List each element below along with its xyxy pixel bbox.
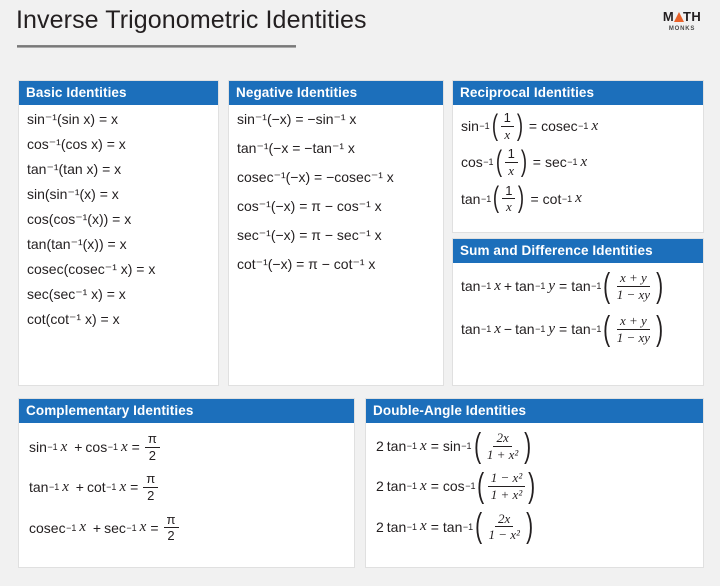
tall-parentheses: ( 1 − x² 1 + x² ) bbox=[475, 471, 537, 501]
fraction: π 2 bbox=[145, 432, 160, 462]
formula-row: cosec−1x + sec−1x = π 2 bbox=[29, 513, 346, 543]
paren-left: ( bbox=[492, 117, 498, 136]
fraction-denominator: 1 + x² bbox=[488, 487, 525, 502]
formula-row: sin−1x + cos−1x = π 2 bbox=[29, 432, 346, 462]
fraction-numerator: π bbox=[164, 513, 179, 529]
equals-sign: = bbox=[559, 279, 567, 293]
formula-term-2: cot bbox=[87, 480, 106, 494]
formula-rhs-function: tan bbox=[571, 322, 590, 336]
formula-rhs-function: sin bbox=[443, 439, 461, 453]
formula-row: cos⁻¹(−x) = π − cos⁻¹ x bbox=[237, 199, 435, 213]
formula-row: cot(cot⁻¹ x) = x bbox=[27, 312, 210, 326]
formula-row: sin⁻¹(sin x) = x bbox=[27, 112, 210, 126]
formula-rhs-function: tan bbox=[571, 279, 590, 293]
fraction: 1 x bbox=[501, 111, 514, 141]
formula-term: tan bbox=[461, 322, 480, 336]
panel-body-basic: sin⁻¹(sin x) = x cos⁻¹(cos x) = x tan⁻¹(… bbox=[19, 105, 218, 332]
panel-title-double: Double-Angle Identities bbox=[366, 399, 703, 423]
equals-sign: = bbox=[559, 322, 567, 336]
fraction: π 2 bbox=[143, 472, 158, 502]
variable-x: x bbox=[420, 479, 427, 494]
tall-parentheses: ( 2x 1 − x² ) bbox=[473, 512, 535, 542]
formula-row: tan−1x + tan−1y = tan−1 ( x + y 1 − xy ) bbox=[461, 271, 695, 301]
paren-right: ) bbox=[656, 319, 663, 340]
formula-row: 2 tan−1x = sin−1 ( 2x 1 + x² ) bbox=[376, 431, 695, 461]
variable-x: x bbox=[591, 119, 598, 134]
paren-right: ) bbox=[656, 276, 663, 297]
coefficient: 2 bbox=[376, 439, 384, 453]
panel-sum-and-difference-identities: Sum and Difference Identities tan−1x + t… bbox=[452, 238, 704, 386]
fraction-denominator: 1 − xy bbox=[614, 287, 653, 302]
formula-term-2: sec bbox=[104, 521, 126, 535]
fraction: 2x 1 + x² bbox=[484, 431, 521, 461]
paren-right: ) bbox=[526, 516, 533, 537]
page-title: Inverse Trigonometric Identities bbox=[16, 6, 367, 35]
formula-lhs-function: tan bbox=[387, 479, 406, 493]
formula-row: 2 tan−1x = tan−1 ( 2x 1 − x² ) bbox=[376, 512, 695, 542]
formula-term: tan bbox=[515, 279, 534, 293]
equals-sign: = bbox=[431, 520, 439, 534]
coefficient: 2 bbox=[376, 520, 384, 534]
tall-parentheses: ( x + y 1 − xy ) bbox=[601, 314, 665, 344]
variable-y: y bbox=[548, 279, 555, 294]
variable-x: x bbox=[494, 322, 501, 337]
fraction-numerator: 2x bbox=[495, 512, 513, 528]
formula-lhs-function: tan bbox=[387, 520, 406, 534]
formula-lhs-function: tan bbox=[461, 192, 480, 206]
fraction: π 2 bbox=[164, 513, 179, 543]
variable-x: x bbox=[62, 480, 69, 495]
fraction-denominator: 2 bbox=[144, 488, 157, 503]
variable-x: x bbox=[420, 519, 427, 534]
variable-x: x bbox=[140, 520, 147, 535]
variable-x: x bbox=[119, 480, 126, 495]
formula-rhs: cosec bbox=[541, 119, 578, 133]
formula-row: sin−1 ( 1 x ) = cosec−1x bbox=[461, 111, 695, 141]
formula-rhs-function: tan bbox=[443, 520, 462, 534]
formula-term: tan bbox=[461, 279, 480, 293]
logo-letter-m: M bbox=[663, 9, 674, 24]
formula-term-1: cosec bbox=[29, 521, 66, 535]
equals-sign: = bbox=[132, 440, 140, 454]
tall-parentheses: ( 1 x ) bbox=[494, 147, 529, 177]
equals-sign: = bbox=[431, 439, 439, 453]
formula-term-2: cos bbox=[85, 440, 107, 454]
fraction: 1 − x² 1 + x² bbox=[488, 471, 525, 501]
fraction-denominator: 1 + x² bbox=[484, 447, 521, 462]
paren-left: ( bbox=[495, 153, 501, 172]
paren-left: ( bbox=[478, 476, 485, 497]
formula-row: tan⁻¹(−x = −tan⁻¹ x bbox=[237, 141, 435, 155]
logo-subtitle: MONKS bbox=[656, 26, 708, 32]
plus-sign: + bbox=[70, 440, 82, 454]
formula-row: tan−1x − tan−1y = tan−1 ( x + y 1 − xy ) bbox=[461, 314, 695, 344]
logo-triangle-icon bbox=[674, 12, 684, 22]
formula-term-1: sin bbox=[29, 440, 47, 454]
formula-row: sec(sec⁻¹ x) = x bbox=[27, 287, 210, 301]
formula-row: sin(sin⁻¹(x) = x bbox=[27, 187, 210, 201]
fraction: 1 x bbox=[502, 184, 515, 214]
formula-rhs-function: cos bbox=[443, 479, 465, 493]
panel-title-complementary: Complementary Identities bbox=[19, 399, 354, 423]
formula-row: cosec⁻¹(−x) = −cosec⁻¹ x bbox=[237, 170, 435, 184]
panel-body-complementary: sin−1x + cos−1x = π 2 tan−1x + cot−1x = … bbox=[19, 423, 354, 549]
variable-x: x bbox=[79, 520, 86, 535]
logo-wordmark: MTH bbox=[663, 10, 701, 23]
formula-row: sec⁻¹(−x) = π − sec⁻¹ x bbox=[237, 228, 435, 242]
formula-rhs: cot bbox=[543, 192, 562, 206]
tall-parentheses: ( 1 x ) bbox=[491, 184, 526, 214]
formula-row: cos(cos⁻¹(x)) = x bbox=[27, 212, 210, 226]
fraction: 2x 1 − x² bbox=[485, 512, 522, 542]
fraction-numerator: 1 bbox=[502, 184, 515, 200]
variable-x: x bbox=[121, 440, 128, 455]
equals-sign: = bbox=[130, 480, 138, 494]
panel-basic-identities: Basic Identities sin⁻¹(sin x) = x cos⁻¹(… bbox=[18, 80, 219, 386]
fraction-denominator: x bbox=[503, 199, 515, 214]
paren-left: ( bbox=[474, 436, 481, 457]
panel-title-negative: Negative Identities bbox=[229, 81, 443, 105]
fraction-numerator: π bbox=[145, 432, 160, 448]
fraction: 1 x bbox=[505, 147, 518, 177]
operator-sign: + bbox=[504, 279, 512, 293]
variable-x: x bbox=[494, 279, 501, 294]
panel-double-angle-identities: Double-Angle Identities 2 tan−1x = sin−1… bbox=[365, 398, 704, 568]
variable-x: x bbox=[581, 155, 588, 170]
formula-rhs: sec bbox=[545, 155, 567, 169]
formula-lhs-function: sin bbox=[461, 119, 479, 133]
panel-body-double: 2 tan−1x = sin−1 ( 2x 1 + x² ) 2 tan−1x … bbox=[366, 423, 703, 548]
formula-row: sin⁻¹(−x) = −sin⁻¹ x bbox=[237, 112, 435, 126]
panel-negative-identities: Negative Identities sin⁻¹(−x) = −sin⁻¹ x… bbox=[228, 80, 444, 386]
formula-term: tan bbox=[515, 322, 534, 336]
tall-parentheses: ( x + y 1 − xy ) bbox=[601, 271, 665, 301]
formula-row: tan−1x + cot−1x = π 2 bbox=[29, 472, 346, 502]
panel-title-sumdiff: Sum and Difference Identities bbox=[453, 239, 703, 263]
panel-body-reciprocal: sin−1 ( 1 x ) = cosec−1x cos−1 ( 1 x ) bbox=[453, 105, 703, 220]
paren-left: ( bbox=[604, 319, 611, 340]
formula-row: 2 tan−1x = cos−1 ( 1 − x² 1 + x² ) bbox=[376, 471, 695, 501]
fraction-numerator: 1 − x² bbox=[488, 471, 525, 487]
paren-right: ) bbox=[524, 436, 531, 457]
formula-lhs-function: tan bbox=[387, 439, 406, 453]
panel-title-basic: Basic Identities bbox=[19, 81, 218, 105]
fraction-numerator: 2x bbox=[493, 431, 511, 447]
coefficient: 2 bbox=[376, 479, 384, 493]
plus-sign: + bbox=[72, 480, 84, 494]
formula-row: cot⁻¹(−x) = π − cot⁻¹ x bbox=[237, 257, 435, 271]
paren-right: ) bbox=[528, 476, 535, 497]
tall-parentheses: ( 1 x ) bbox=[490, 111, 525, 141]
fraction-denominator: 1 − xy bbox=[614, 330, 653, 345]
paren-right: ) bbox=[521, 153, 527, 172]
fraction-numerator: 1 bbox=[505, 147, 518, 163]
paren-right: ) bbox=[517, 117, 523, 136]
fraction-denominator: 1 − x² bbox=[485, 527, 522, 542]
panel-complementary-identities: Complementary Identities sin−1x + cos−1x… bbox=[18, 398, 355, 568]
paren-left: ( bbox=[493, 189, 499, 208]
title-underline-rule bbox=[17, 45, 296, 48]
fraction-numerator: x + y bbox=[617, 314, 650, 330]
variable-x: x bbox=[420, 439, 427, 454]
equals-sign: = bbox=[431, 479, 439, 493]
fraction-denominator: 2 bbox=[146, 448, 159, 463]
formula-row: cos⁻¹(cos x) = x bbox=[27, 137, 210, 151]
mathmonks-logo: MTH MONKS bbox=[656, 9, 708, 39]
equals-sign: = bbox=[530, 192, 538, 206]
logo-letters-th: TH bbox=[683, 9, 701, 24]
panel-body-sumdiff: tan−1x + tan−1y = tan−1 ( x + y 1 − xy )… bbox=[453, 263, 703, 351]
formula-row: tan(tan⁻¹(x)) = x bbox=[27, 237, 210, 251]
formula-term-1: tan bbox=[29, 480, 48, 494]
equals-sign: = bbox=[533, 155, 541, 169]
formula-lhs-function: cos bbox=[461, 155, 483, 169]
fraction: x + y 1 − xy bbox=[614, 271, 653, 301]
fraction-denominator: x bbox=[501, 127, 513, 142]
fraction-denominator: 2 bbox=[164, 528, 177, 543]
fraction-denominator: x bbox=[505, 163, 517, 178]
variable-x: x bbox=[61, 440, 68, 455]
formula-row: tan⁻¹(tan x) = x bbox=[27, 162, 210, 176]
paren-left: ( bbox=[604, 276, 611, 297]
formula-row: cos−1 ( 1 x ) = sec−1x bbox=[461, 147, 695, 177]
variable-y: y bbox=[548, 322, 555, 337]
equals-sign: = bbox=[150, 521, 158, 535]
fraction-numerator: 1 bbox=[501, 111, 514, 127]
panel-reciprocal-identities: Reciprocal Identities sin−1 ( 1 x ) = co… bbox=[452, 80, 704, 233]
tall-parentheses: ( 2x 1 + x² ) bbox=[472, 431, 534, 461]
fraction-numerator: x + y bbox=[617, 271, 650, 287]
paren-left: ( bbox=[475, 516, 482, 537]
fraction: x + y 1 − xy bbox=[614, 314, 653, 344]
page-header: Inverse Trigonometric Identities MTH MON… bbox=[0, 0, 720, 62]
panel-title-reciprocal: Reciprocal Identities bbox=[453, 81, 703, 105]
paren-right: ) bbox=[518, 189, 524, 208]
plus-sign: + bbox=[89, 521, 101, 535]
equals-sign: = bbox=[529, 119, 537, 133]
operator-sign: − bbox=[504, 322, 512, 336]
panel-body-negative: sin⁻¹(−x) = −sin⁻¹ x tan⁻¹(−x = −tan⁻¹ x… bbox=[229, 105, 443, 277]
variable-x: x bbox=[575, 191, 582, 206]
formula-row: tan−1 ( 1 x ) = cot−1x bbox=[461, 184, 695, 214]
formula-row: cosec(cosec⁻¹ x) = x bbox=[27, 262, 210, 276]
fraction-numerator: π bbox=[143, 472, 158, 488]
